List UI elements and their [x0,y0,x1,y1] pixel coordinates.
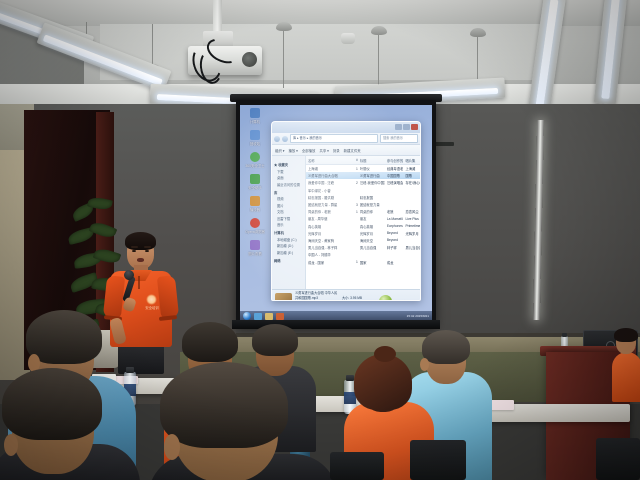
desktop-icon-label: 回收站 [242,141,268,147]
cell-artist: Beyond [385,238,404,242]
explorer-addressbar[interactable]: 库 ▸ 音乐 ▸ 我的音乐 搜索 我的音乐 [272,133,420,145]
file-list-header[interactable]: 名称 # 标题 参与创作的艺术家 唱片集 [306,156,420,165]
search-input[interactable]: 搜索 我的音乐 [380,134,418,143]
cell-title: 朋友 [358,216,385,221]
pendant-rod-2 [152,24,153,68]
sidebar-item-downloads[interactable]: 下载 [274,169,303,174]
taskbar-media-icon[interactable] [276,313,284,320]
cell-track: 2 [348,181,358,185]
file-details-text: 义勇军进行曲大合唱 中华人民共和国国歌.mp3 MP3 格式声音 参与创作: 中… [295,291,339,301]
cell-track: 3 [348,203,358,207]
cell-title: 义勇军进行曲 [358,173,385,178]
projection-screen: 计算机 回收站 360安全卫士 安全助手 [236,100,436,326]
presenter-eye-right [145,250,149,252]
explorer-navigation-pane[interactable]: ★ 收藏夹 下载 桌面 最近访问的位置 库 视频 图片 文档 迅雷下载 音乐 计… [272,156,306,289]
cell-artist: 成龙 [385,260,404,265]
sidebar-item-drive-c[interactable]: 本地磁盘 (C:) [274,237,303,242]
clock-date[interactable]: 2015/8/21 [415,314,429,318]
window-controls[interactable] [395,124,418,130]
ponytail [374,346,396,362]
screen-surface: 计算机 回收站 360安全卫士 安全助手 [240,105,432,321]
desktop-icon-label: 360安全卫士 [242,163,268,169]
selected-filename: 义勇军进行曲大合唱 中华人民共和国国歌.mp3 [295,291,337,300]
table-row[interactable]: 朋友 - 周华健 朋友 La Marseillaise Live Plus Im… [306,215,420,222]
cell-name: 同桌的你 - 老狼 [306,209,348,214]
computer-group[interactable]: 计算机 [274,230,303,235]
cell-artist: La Marseillaise [385,217,404,221]
chair [410,440,466,480]
favorites-group[interactable]: ★ 收藏夹 [274,162,303,167]
table-row[interactable]: 军中绿花 - 小曾 [306,187,420,194]
desktop-icon-label: 播放器 [242,207,268,213]
shirt-logo-icon [146,294,157,305]
address-input[interactable]: 库 ▸ 音乐 ▸ 我的音乐 [290,134,378,143]
file-size: 大小: 3.95 MB [342,296,362,300]
presenter-brow-left [131,246,138,248]
cell-album: 恋恋风尘 [403,209,420,214]
cell-title: 汪峰-我爱你中国演唱会 [358,180,385,185]
media-orb-icon [379,295,392,302]
cell-artist: Earphones [385,224,404,228]
cell-artist: 经典粤语老歌 [385,166,404,171]
cell-album: 上海滩 [403,166,420,171]
column-title[interactable]: 标题 [358,158,385,163]
sidebar-item-videos[interactable]: 视频 [274,196,303,201]
cell-name: 中国人 - 刘德华 [306,252,348,257]
back-icon[interactable] [274,136,280,142]
star-rating-icon[interactable]: ☆☆☆☆☆ [395,299,409,302]
explorer-window[interactable]: 库 ▸ 音乐 ▸ 我的音乐 搜索 我的音乐 组织 ▾ 播放 ▾ 全部播放 共享 … [271,121,421,301]
cell-name: 军中绿花 - 小曾 [306,188,348,193]
pendant-cone-4 [371,26,387,35]
column-name[interactable]: 名称 [306,158,348,163]
desktop-icon-label: Opera浏览器 [242,229,268,235]
taskbar-clock: 15:42 2015/8/21 [407,314,429,318]
cell-title: 男儿当自强 [358,245,385,250]
cell-title: 团结就是力量 [358,202,385,207]
cell-track: 1 [348,260,358,264]
sidebar-item-recent[interactable]: 最近访问的位置 [274,182,303,187]
desktop-icon-column: 计算机 回收站 360安全卫士 安全助手 [242,107,268,303]
desktop-icon-label: 计算机 [242,119,268,125]
sidebar-item-music[interactable]: 音乐 [274,222,303,227]
cell-album: Primetime Security [403,224,420,228]
projected-desktop: 计算机 回收站 360安全卫士 安全助手 [240,105,432,321]
cell-name: 上海滩 [306,166,348,171]
projector-mount-pole [213,0,222,34]
rating-widget: ☆☆☆☆☆ [395,299,417,302]
presenter-eye-left [132,250,136,252]
cell-name: 团结就是力量 - 群星 [306,202,348,207]
sidebar-item-desktop[interactable]: 桌面 [274,175,303,180]
presenter-hair [125,232,156,250]
recycle-bin-icon[interactable]: 回收站 [242,129,268,150]
attendee-front-left-1 [0,372,130,480]
desktop-icon-label: 图片查看 [242,251,268,257]
burn-menu[interactable]: 刻录 [333,148,340,153]
chair [330,452,384,480]
file-thumbnail [275,293,292,302]
table-row[interactable]: 海阔天空 - 黄家驹 海阔天空 Beyond [306,237,420,244]
sidebar-item-pictures[interactable]: 图片 [274,203,303,208]
cell-artist: 汪峰演唱会录音 [385,180,404,185]
table-row[interactable]: 男儿当自强 - 林子祥 男儿当自强 林子祥 男儿当自强 精选集 [306,244,420,251]
presenter-sleeve-right [157,275,179,319]
cell-album: 光辉岁月 [403,231,420,236]
cell-name: 海阔天空 - 黄家驹 [306,238,348,243]
table-row[interactable]: 同桌的你 - 老狼 1 同桌的你 老狼 恋恋风尘 [306,208,420,215]
antivirus-icon[interactable]: 360安全卫士 [242,151,268,172]
media-icon[interactable]: 播放器 [242,195,268,216]
cell-name: 成龙 - 国家 [306,260,348,265]
cell-name: 朋友 - 周华健 [306,216,348,221]
maximize-button[interactable] [403,124,410,130]
pendant-cone-3 [276,22,292,31]
playall-menu[interactable]: 全部播放 [302,148,316,153]
column-album[interactable]: 唱片集 [403,158,420,163]
sidebar-item-drive-e[interactable]: 新加卷 (E:) [274,250,303,255]
file-size-text: 大小: 3.95 MB 长度: 00:01:17 [342,296,376,301]
sidebar-item-drive-d[interactable]: 新加卷 (D:) [274,243,303,248]
table-row[interactable]: 光辉岁月 光辉岁月 Beyond 光辉岁月 [306,230,420,237]
sidebar-item-thunder[interactable]: 迅雷下载 [274,216,303,221]
explorer-body: ★ 收藏夹 下载 桌面 最近访问的位置 库 视频 图片 文档 迅雷下载 音乐 计… [272,156,420,289]
cell-artist: Beyond [385,231,404,235]
cell-title: 同桌的你 [358,209,385,214]
network-group[interactable]: 网络 [274,258,303,263]
newfolder-button[interactable]: 新建文件夹 [344,148,361,153]
photo-icon[interactable]: 图片查看 [242,239,268,260]
pendant-rod-4 [378,30,379,86]
cell-artist: 林子祥 [385,245,404,250]
computer-icon[interactable]: 计算机 [242,107,268,128]
forward-icon[interactable] [282,136,288,142]
chair [596,438,640,480]
cell-title: 海阔天空 [358,238,385,243]
cell-name: 真心英雄 [306,224,348,229]
pendant-cone-5 [470,28,486,37]
table-row[interactable]: 团结就是力量 - 群星 3 团结就是力量 [306,201,420,208]
table-row[interactable]: 中国人 - 刘德华 [306,251,420,258]
cell-artist: 老狼 [385,209,404,214]
table-row[interactable]: 上海滩 1 叶丽仪 经典粤语老歌 上海滩 [306,165,420,172]
cell-title: 精忠报国 [358,195,385,200]
cell-track: 1 [348,167,358,171]
cell-album: 存在/我心中的歌曲 [403,180,420,185]
taskbar-explorer-icon[interactable] [265,313,273,320]
cell-track: 1 [348,210,358,214]
explorer-titlebar[interactable] [272,122,420,133]
explorer-details-pane: 义勇军进行曲大合唱 中华人民共和国国歌.mp3 MP3 格式声音 参与创作: 中… [272,289,420,301]
smoke-detector [341,33,355,44]
shirt-logo-text: 安全培训 [142,306,162,311]
projector-lens [242,52,257,67]
cell-title: 国家 [358,260,385,265]
clock-time[interactable]: 15:42 [407,314,415,318]
presenter-brow-right [144,246,151,248]
cell-name: 义勇军进行曲大合唱 [306,173,348,178]
libraries-group[interactable]: 库 [274,190,303,195]
pendant-rod-3 [283,26,284,88]
column-track[interactable]: # [348,158,358,162]
organize-menu[interactable]: 组织 ▾ [275,148,284,153]
attendee-right-orange [612,330,640,400]
table-row[interactable]: 真心英雄 真心英雄 Earphones Primetime Security [306,223,420,230]
table-row[interactable]: 我爱你中国 - 汪峰 2 汪峰-我爱你中国演唱会 汪峰演唱会录音 存在/我心中的… [306,179,420,186]
guard-icon[interactable]: 安全助手 [242,173,268,194]
column-artist[interactable]: 参与创作的艺术家 [385,158,404,163]
cell-title: 真心英雄 [358,224,385,229]
presenter-mouth [137,258,144,262]
cell-name: 光辉岁月 [306,231,348,236]
cell-album: Live Plus Images [403,217,420,221]
desktop-icon-label: 安全助手 [242,185,268,191]
conference-room-photo: 计算机 回收站 360安全卫士 安全助手 [0,0,640,480]
close-button[interactable] [411,124,418,130]
table-row[interactable]: 成龙 - 国家 1 国家 成龙 [306,258,420,265]
table-row[interactable]: 精忠报国 - 屠洪刚 精忠报国 [306,194,420,201]
cell-title: 光辉岁月 [358,231,385,236]
cell-title: 叶丽仪 [358,166,385,171]
cell-album: 国歌 [403,173,420,178]
play-menu[interactable]: 播放 ▾ [288,148,297,153]
share-menu[interactable]: 共享 ▾ [319,148,328,153]
cell-name: 精忠报国 - 屠洪刚 [306,195,348,200]
cell-album: 男儿当自强 精选集 [403,245,420,250]
presenter-placket [138,276,140,289]
explorer-toolbar[interactable]: 组织 ▾ 播放 ▾ 全部播放 共享 ▾ 刻录 新建文件夹 [272,145,420,156]
explorer-file-list[interactable]: 名称 # 标题 参与创作的艺术家 唱片集 上海滩 1 叶丽仪 经典粤语老歌 [306,156,420,289]
minimize-button[interactable] [395,124,402,130]
cell-name: 我爱你中国 - 汪峰 [306,180,348,185]
cell-artist: 中国国歌 [385,173,404,178]
cell-name: 男儿当自强 - 林子祥 [306,245,348,250]
table-row[interactable]: 义勇军进行曲大合唱 义勇军进行曲 中国国歌 国歌 [306,172,420,179]
bottle-cap [562,333,567,337]
sidebar-item-documents[interactable]: 文档 [274,209,303,214]
attendee-front-center [148,368,328,480]
opera-icon[interactable]: Opera浏览器 [242,217,268,238]
